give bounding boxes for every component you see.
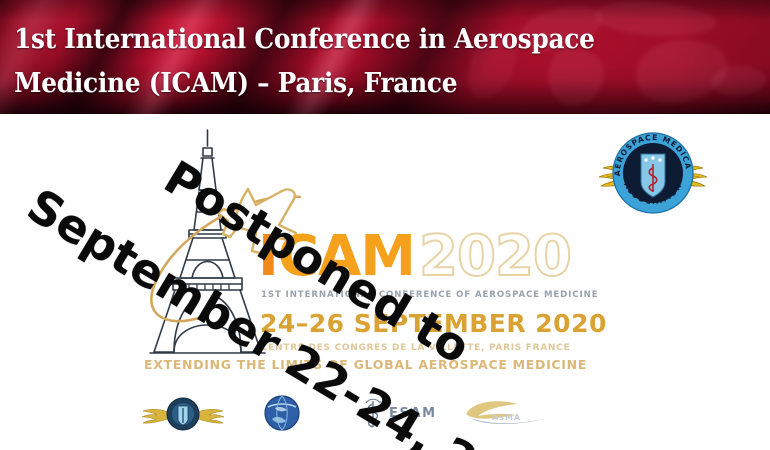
icam-wordmark: ICAM2020 1ST INTERNATIONAL CONFERENCE OF…: [258, 229, 608, 353]
conference-dates: 24–26 SEPTEMBER 2020: [260, 309, 608, 338]
conference-venue: CENTRE DES CONGRÈS DE LA VILLETTE, PARIS…: [261, 343, 608, 353]
conference-tagline: EXTENDING THE LIMITS OF GLOBAL AEROSPACE…: [144, 357, 587, 372]
partner-label-esam: ESAM: [389, 406, 437, 421]
partner-logo-swoosh: AsMA: [462, 390, 554, 436]
partner-logos-row: ESAM AsMA: [130, 390, 570, 440]
icam-logotype: ICAM2020: [258, 229, 608, 285]
partner-logo-esam: ESAM: [358, 390, 437, 436]
partner-logo-winged-emblem: [140, 390, 226, 436]
page-title: 1st International Conference in Aerospac…: [14, 18, 658, 106]
conference-poster: AEROSPACE MEDICAL ASSOCIATION: [0, 114, 770, 450]
icam-letter-i: I: [258, 224, 278, 289]
partner-logo-globe: [260, 390, 304, 436]
conference-announcement-page: 1st International Conference in Aerospac…: [0, 0, 770, 450]
icam-letters-cam: CAM: [278, 224, 415, 289]
icam-year: 2020: [419, 224, 571, 289]
header-banner: 1st International Conference in Aerospac…: [0, 0, 770, 114]
swoosh-wordmark: AsMA: [492, 413, 521, 422]
conference-subtitle: 1ST INTERNATIONAL CONFERENCE OF AEROSPAC…: [261, 290, 608, 300]
aerospace-medical-association-badge: AEROSPACE MEDICAL ASSOCIATION: [595, 130, 711, 216]
caduceus-icon: [366, 399, 380, 427]
esam-dot-icon: [379, 401, 382, 404]
